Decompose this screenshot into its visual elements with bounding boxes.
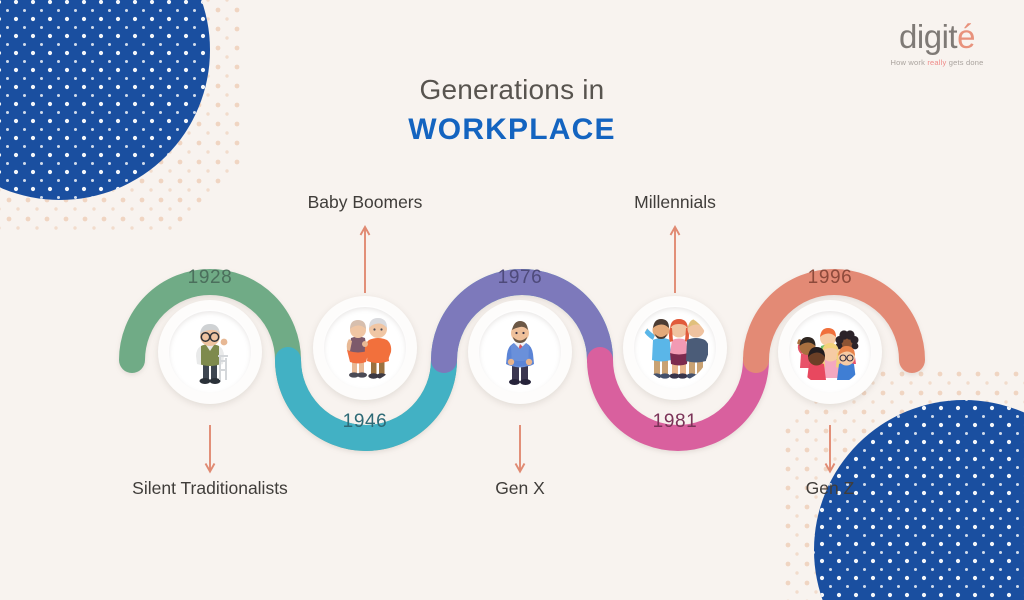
group-of-children-icon [796, 318, 864, 386]
generation-label-gen-x: Gen X [495, 478, 545, 499]
timeline-node-baby-boomers[interactable] [313, 296, 417, 400]
generation-label-gen-z: Gen Z [806, 478, 855, 499]
businessman-icon [486, 318, 554, 386]
elderly-couple-icon [331, 314, 399, 382]
generation-label-silent-traditionalists: Silent Traditionalists [132, 478, 288, 499]
timeline-node-gen-x[interactable] [468, 300, 572, 404]
timeline-node-gen-z[interactable] [778, 300, 882, 404]
timeline-node-millennials[interactable] [623, 296, 727, 400]
timeline-node-silent-traditionalists[interactable] [158, 300, 262, 404]
elderly-man-with-cane-icon [176, 318, 244, 386]
infographic-canvas: digité How work really gets done Generat… [0, 0, 1024, 600]
generation-label-baby-boomers: Baby Boomers [308, 192, 423, 213]
generation-label-millennials: Millennials [634, 192, 716, 213]
three-young-adults-icon [641, 314, 709, 382]
